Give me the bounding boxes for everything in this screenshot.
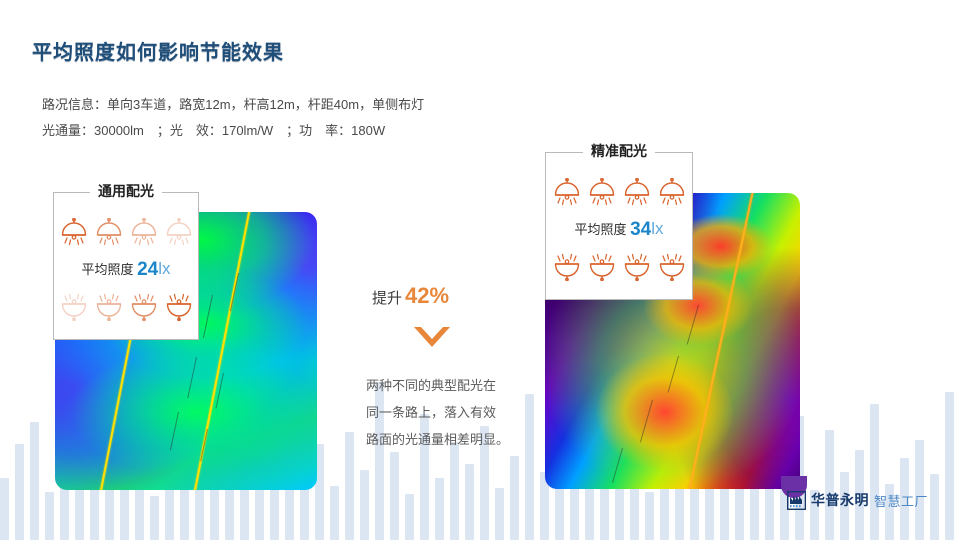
decorative-bar [870,404,879,540]
lamp-icon-wrap [657,178,687,206]
decorative-bar [405,470,414,540]
lamp-icon [657,253,687,281]
lamp-icon [59,218,89,246]
avg-label: 平均照度 [574,222,626,237]
decorative-bar [465,464,474,540]
uplift-value: 42% [405,283,449,308]
lamp-icon [94,293,124,321]
lamp-icon [164,293,194,321]
decorative-bar [0,478,9,540]
lamp-icon [129,218,159,246]
lamp-row-top-right [545,178,693,206]
avg-illuminance-right: 平均照度 34lx [545,219,693,241]
comparison-description: 两种不同的典型配光在 同一条路上，落入有效 路面的光通量相差明显。 [366,372,536,453]
lamp-icon [164,218,194,246]
lamp-icon-wrap [622,253,652,281]
desc-line-1: 两种不同的典型配光在 [366,372,536,399]
lamp-icon [59,293,89,321]
logo-brand-text: 华普永明 [811,490,869,510]
lamp-icon-wrap [164,218,194,246]
decorative-bar [645,492,654,540]
lamp-icon [94,218,124,246]
page-title: 平均照度如何影响节能效果 [32,36,284,65]
decorative-bar [180,482,189,540]
lamp-icon-wrap [94,293,124,321]
desc-line-3: 路面的光通量相差明显。 [366,426,536,453]
avg-value: 24 [137,259,158,280]
lamp-icon-wrap [164,293,194,321]
decorative-bar [390,452,399,540]
decorative-bar [750,482,759,540]
decorative-bar [495,488,504,540]
card-title-general: 通用配光 [90,181,162,201]
lamp-icon [587,178,617,206]
company-mark-icon [787,491,806,510]
lamp-row-top-left [53,218,199,246]
decorative-bar [15,444,24,540]
avg-label: 平均照度 [81,262,133,277]
lamp-icon-wrap [552,253,582,281]
lamp-icon-wrap [59,218,89,246]
decorative-bar [330,486,339,540]
decorative-bar [900,428,909,540]
desc-line-2: 同一条路上，落入有效 [366,399,536,426]
decorative-bar [945,392,954,540]
decorative-bar [360,470,369,540]
road-streak [203,295,213,339]
card-title-precise: 精准配光 [583,141,655,161]
lamp-icon-wrap [59,293,89,321]
card-general-distribution: 通用配光 平均照度 24lx [53,192,199,340]
decorative-bar [345,402,354,540]
avg-value: 34 [630,219,651,240]
lamp-icon-wrap [622,178,652,206]
lamp-icon [129,293,159,321]
lamp-icon [657,178,687,206]
lamp-icon-wrap [129,218,159,246]
lamp-icon-wrap [129,293,159,321]
lamp-icon [622,253,652,281]
decorative-bar [435,478,444,540]
road-streak [667,356,679,393]
decorative-bar [825,430,834,540]
lamp-icon [587,253,617,281]
uplift-readout: 提升42% [372,283,449,309]
lamp-icon-wrap [552,178,582,206]
lamp-row-bottom-left [53,293,199,321]
slide-root: 平均照度如何影响节能效果 路况信息：单向3车道，路宽12m，杆高12m，杆距40… [0,0,960,540]
road-streak [687,305,699,345]
lamp-icon [552,178,582,206]
avg-unit: lx [651,219,663,238]
lamp-icon [552,253,582,281]
road-streak [612,447,623,481]
info-line-2: 光通量：30000lm ；光 效：170lm/W ；功 率：180W [42,118,424,144]
decorative-bar [30,422,39,540]
road-streak [170,412,179,450]
road-streak [640,400,653,443]
lamp-icon-wrap [587,253,617,281]
lamp-icon [622,178,652,206]
card-precise-distribution: 精准配光 平均照度 34lx [545,152,693,300]
road-streak [188,356,198,397]
decorative-bar [930,474,939,540]
lamp-icon-wrap [587,178,617,206]
chevron-down-icon [412,325,452,356]
logo-sub-text: 智慧工厂 [874,491,928,510]
info-line-1: 路况信息：单向3车道，路宽12m，杆高12m，杆距40m，单侧布灯 [42,92,424,118]
decorative-bar [45,492,54,540]
lamp-icon-wrap [657,253,687,281]
lamp-row-bottom-right [545,253,693,281]
avg-unit: lx [158,259,170,278]
avg-illuminance-left: 平均照度 24lx [53,259,199,281]
company-logo: 华普永明 智慧工厂 [787,490,928,510]
lamp-icon-wrap [94,218,124,246]
uplift-label: 提升 [372,290,402,307]
road-condition-info: 路况信息：单向3车道，路宽12m，杆高12m，杆距40m，单侧布灯 光通量：30… [42,92,424,144]
